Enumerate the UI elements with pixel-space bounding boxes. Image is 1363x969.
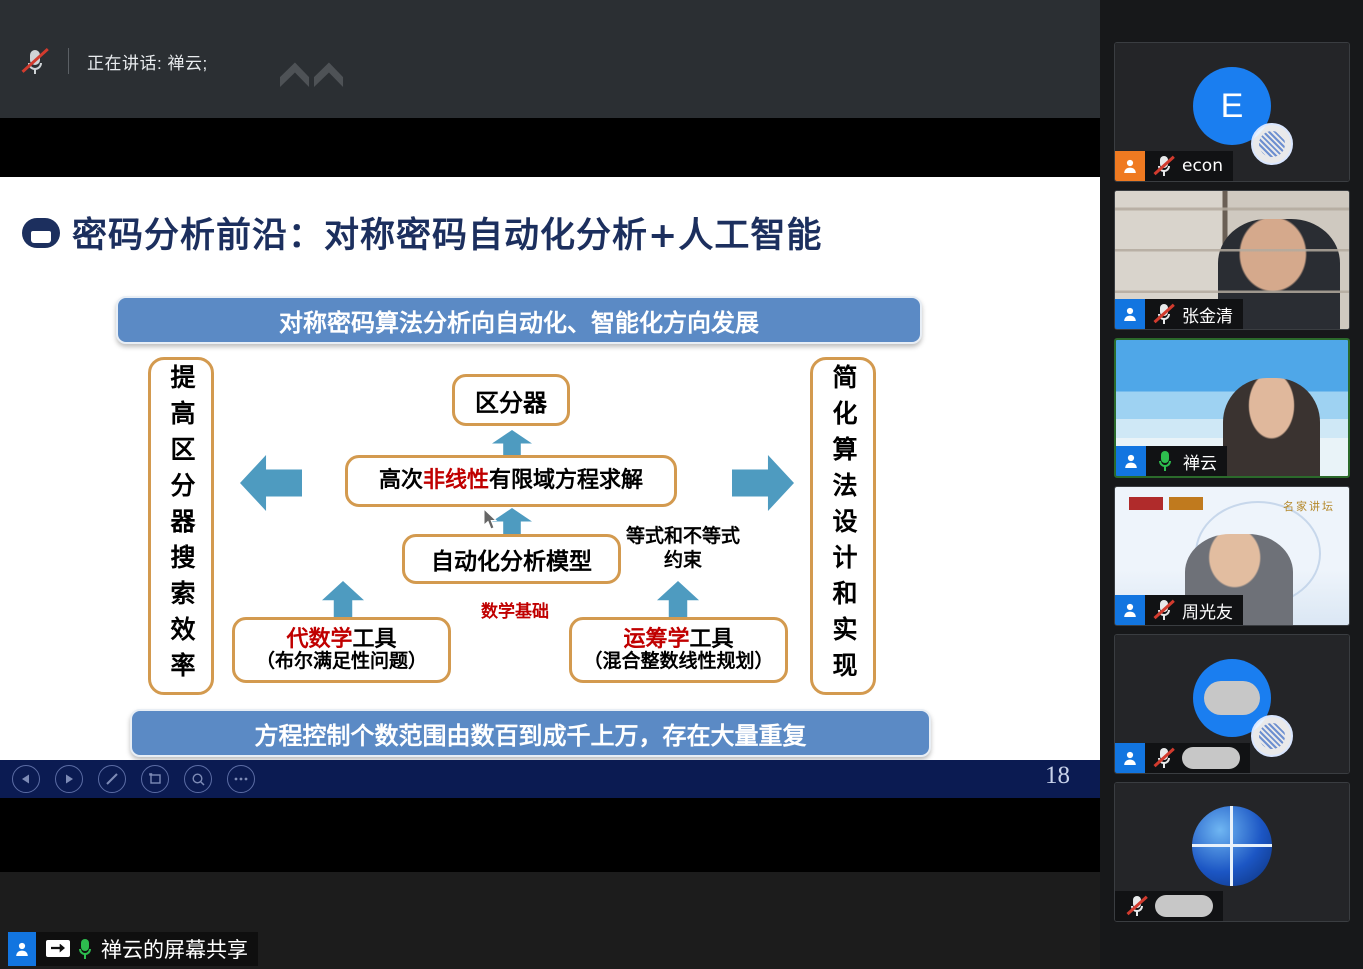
participant-icon [8, 932, 36, 966]
participant-name-redacted [1155, 895, 1213, 917]
participant-icon [1115, 743, 1145, 773]
math-basis-label: 数学基础 [455, 597, 575, 622]
mic-off-icon [1154, 598, 1174, 622]
equation-suffix: 有限域方程求解 [489, 468, 643, 493]
participant-tile-zhouguangyou[interactable]: 名家讲坛 周光友 [1114, 486, 1350, 626]
name-tag [1115, 891, 1223, 921]
arrow-up-icon-3 [322, 581, 364, 621]
name-tag: 周光友 [1115, 595, 1243, 625]
share-status-label: 禅云的屏幕共享 [101, 934, 248, 964]
share-status-bar: 禅云的屏幕共享 [8, 932, 258, 966]
participant-name-redacted [1182, 747, 1240, 769]
speaking-label: 正在讲话: 禅云; [87, 49, 208, 74]
mouse-cursor [484, 509, 500, 531]
previous-slide-button[interactable] [12, 765, 40, 793]
slide-title-text: 密码分析前沿：对称密码自动化分析+人工智能 [72, 207, 822, 258]
presentation-toolbar[interactable] [0, 760, 1100, 798]
constraint-label: 等式和不等式 约束 [613, 525, 753, 573]
mic-on-icon [1155, 449, 1175, 473]
box-distinguisher: 区分器 [452, 374, 570, 426]
arrow-up-icon-4 [657, 581, 699, 621]
mic-off-icon [1154, 154, 1174, 178]
zoom-button[interactable] [184, 765, 212, 793]
mic-off-icon [1154, 302, 1174, 326]
more-options-button[interactable] [227, 765, 255, 793]
arrow-left-icon [240, 455, 302, 511]
mic-off-icon [1127, 894, 1147, 918]
all-slides-button[interactable] [141, 765, 169, 793]
algebra-subtitle: （布尔满足性问题） [256, 651, 427, 673]
participant-icon [1115, 151, 1145, 181]
participant-name: 禅云 [1183, 449, 1217, 474]
banner-text: 名家讲坛 [1283, 498, 1335, 514]
seal-overlay-icon [1251, 123, 1293, 165]
arrow-right-icon [732, 455, 794, 511]
zoom-meeting-window: 正在讲话: 禅云; 密码分析前沿：对称密码自动化分析+人工智能 对称密码算法分析… [0, 0, 1363, 969]
speaking-indicator-bar: 正在讲话: 禅云; [0, 38, 1100, 84]
constraint-line-1: 等式和不等式 [613, 525, 753, 549]
shared-screen-area: 正在讲话: 禅云; 密码分析前沿：对称密码自动化分析+人工智能 对称密码算法分析… [0, 0, 1100, 969]
participant-icon [1116, 446, 1146, 476]
slide-number: 18 [1045, 762, 1070, 790]
participant-icon [1115, 595, 1145, 625]
participant-tile-zhangjinqing[interactable]: 张金清 [1114, 190, 1350, 330]
equation-prefix: 高次 [379, 468, 423, 493]
algebra-highlight: 代数学 [286, 627, 352, 652]
letterbox-top [0, 118, 1100, 177]
top-banner: 对称密码算法分析向自动化、智能化方向发展 [116, 296, 922, 344]
right-outcome-box: 简化算法设计和实现 [810, 357, 876, 695]
or-subtitle: （混合整数线性规划） [583, 651, 773, 673]
or-rest: 工具 [690, 627, 734, 652]
participant-tile-econ[interactable]: E econ [1114, 42, 1350, 182]
box-distinguisher-label: 区分器 [475, 383, 547, 418]
box-operations-research-tool: 运筹学工具 （混合整数线性规划） [569, 617, 788, 683]
screen-share-icon [46, 940, 70, 959]
powerpoint-slide: 密码分析前沿：对称密码自动化分析+人工智能 对称密码算法分析向自动化、智能化方向… [0, 177, 1100, 768]
name-tag: 禅云 [1116, 446, 1227, 476]
box-algebra-tool: 代数学工具 （布尔满足性问题） [232, 617, 451, 683]
pen-button[interactable] [98, 765, 126, 793]
box-model-label: 自动化分析模型 [431, 542, 592, 576]
avatar-redacted [1204, 681, 1260, 715]
bottom-banner: 方程控制个数范围由数百到成千上万，存在大量重复 [130, 709, 931, 757]
zoom-watermark-icon [280, 55, 370, 95]
participant-name: econ [1182, 156, 1223, 176]
next-slide-button[interactable] [55, 765, 83, 793]
name-tag: 张金清 [1115, 299, 1243, 329]
algebra-rest: 工具 [353, 627, 397, 652]
participant-icon [1115, 299, 1145, 329]
logo-badges [1129, 497, 1203, 510]
participant-tile-redacted-1[interactable] [1114, 634, 1350, 774]
left-outcome-box: 提高区分器搜索效率 [148, 357, 214, 695]
participant-filmstrip[interactable]: E econ 张金清 [1100, 0, 1363, 969]
mic-on-icon [76, 938, 94, 960]
box-equation-solving: 高次非线性有限域方程求解 [345, 455, 677, 507]
letterbox-bottom [0, 798, 1100, 872]
seal-overlay-icon [1251, 715, 1293, 757]
slide-bullet-icon [22, 218, 60, 248]
or-highlight: 运筹学 [623, 627, 689, 652]
participant-tile-chanyun[interactable]: 禅云 [1114, 338, 1350, 478]
divider [68, 48, 69, 74]
participant-name: 周光友 [1182, 598, 1233, 623]
equation-highlight: 非线性 [423, 468, 489, 493]
box-automated-model: 自动化分析模型 [402, 534, 621, 584]
avatar-windows-icon [1192, 806, 1272, 886]
mic-off-icon [1154, 746, 1174, 770]
constraint-line-2: 约束 [613, 549, 753, 573]
name-tag: econ [1115, 151, 1233, 181]
participant-name: 张金清 [1182, 302, 1233, 327]
participant-tile-redacted-2[interactable] [1114, 782, 1350, 922]
mic-off-icon [20, 46, 50, 76]
name-tag [1115, 743, 1250, 773]
avatar-initial: E [1221, 87, 1244, 126]
arrow-up-icon-1 [492, 430, 532, 458]
slide-title: 密码分析前沿：对称密码自动化分析+人工智能 [22, 207, 822, 258]
